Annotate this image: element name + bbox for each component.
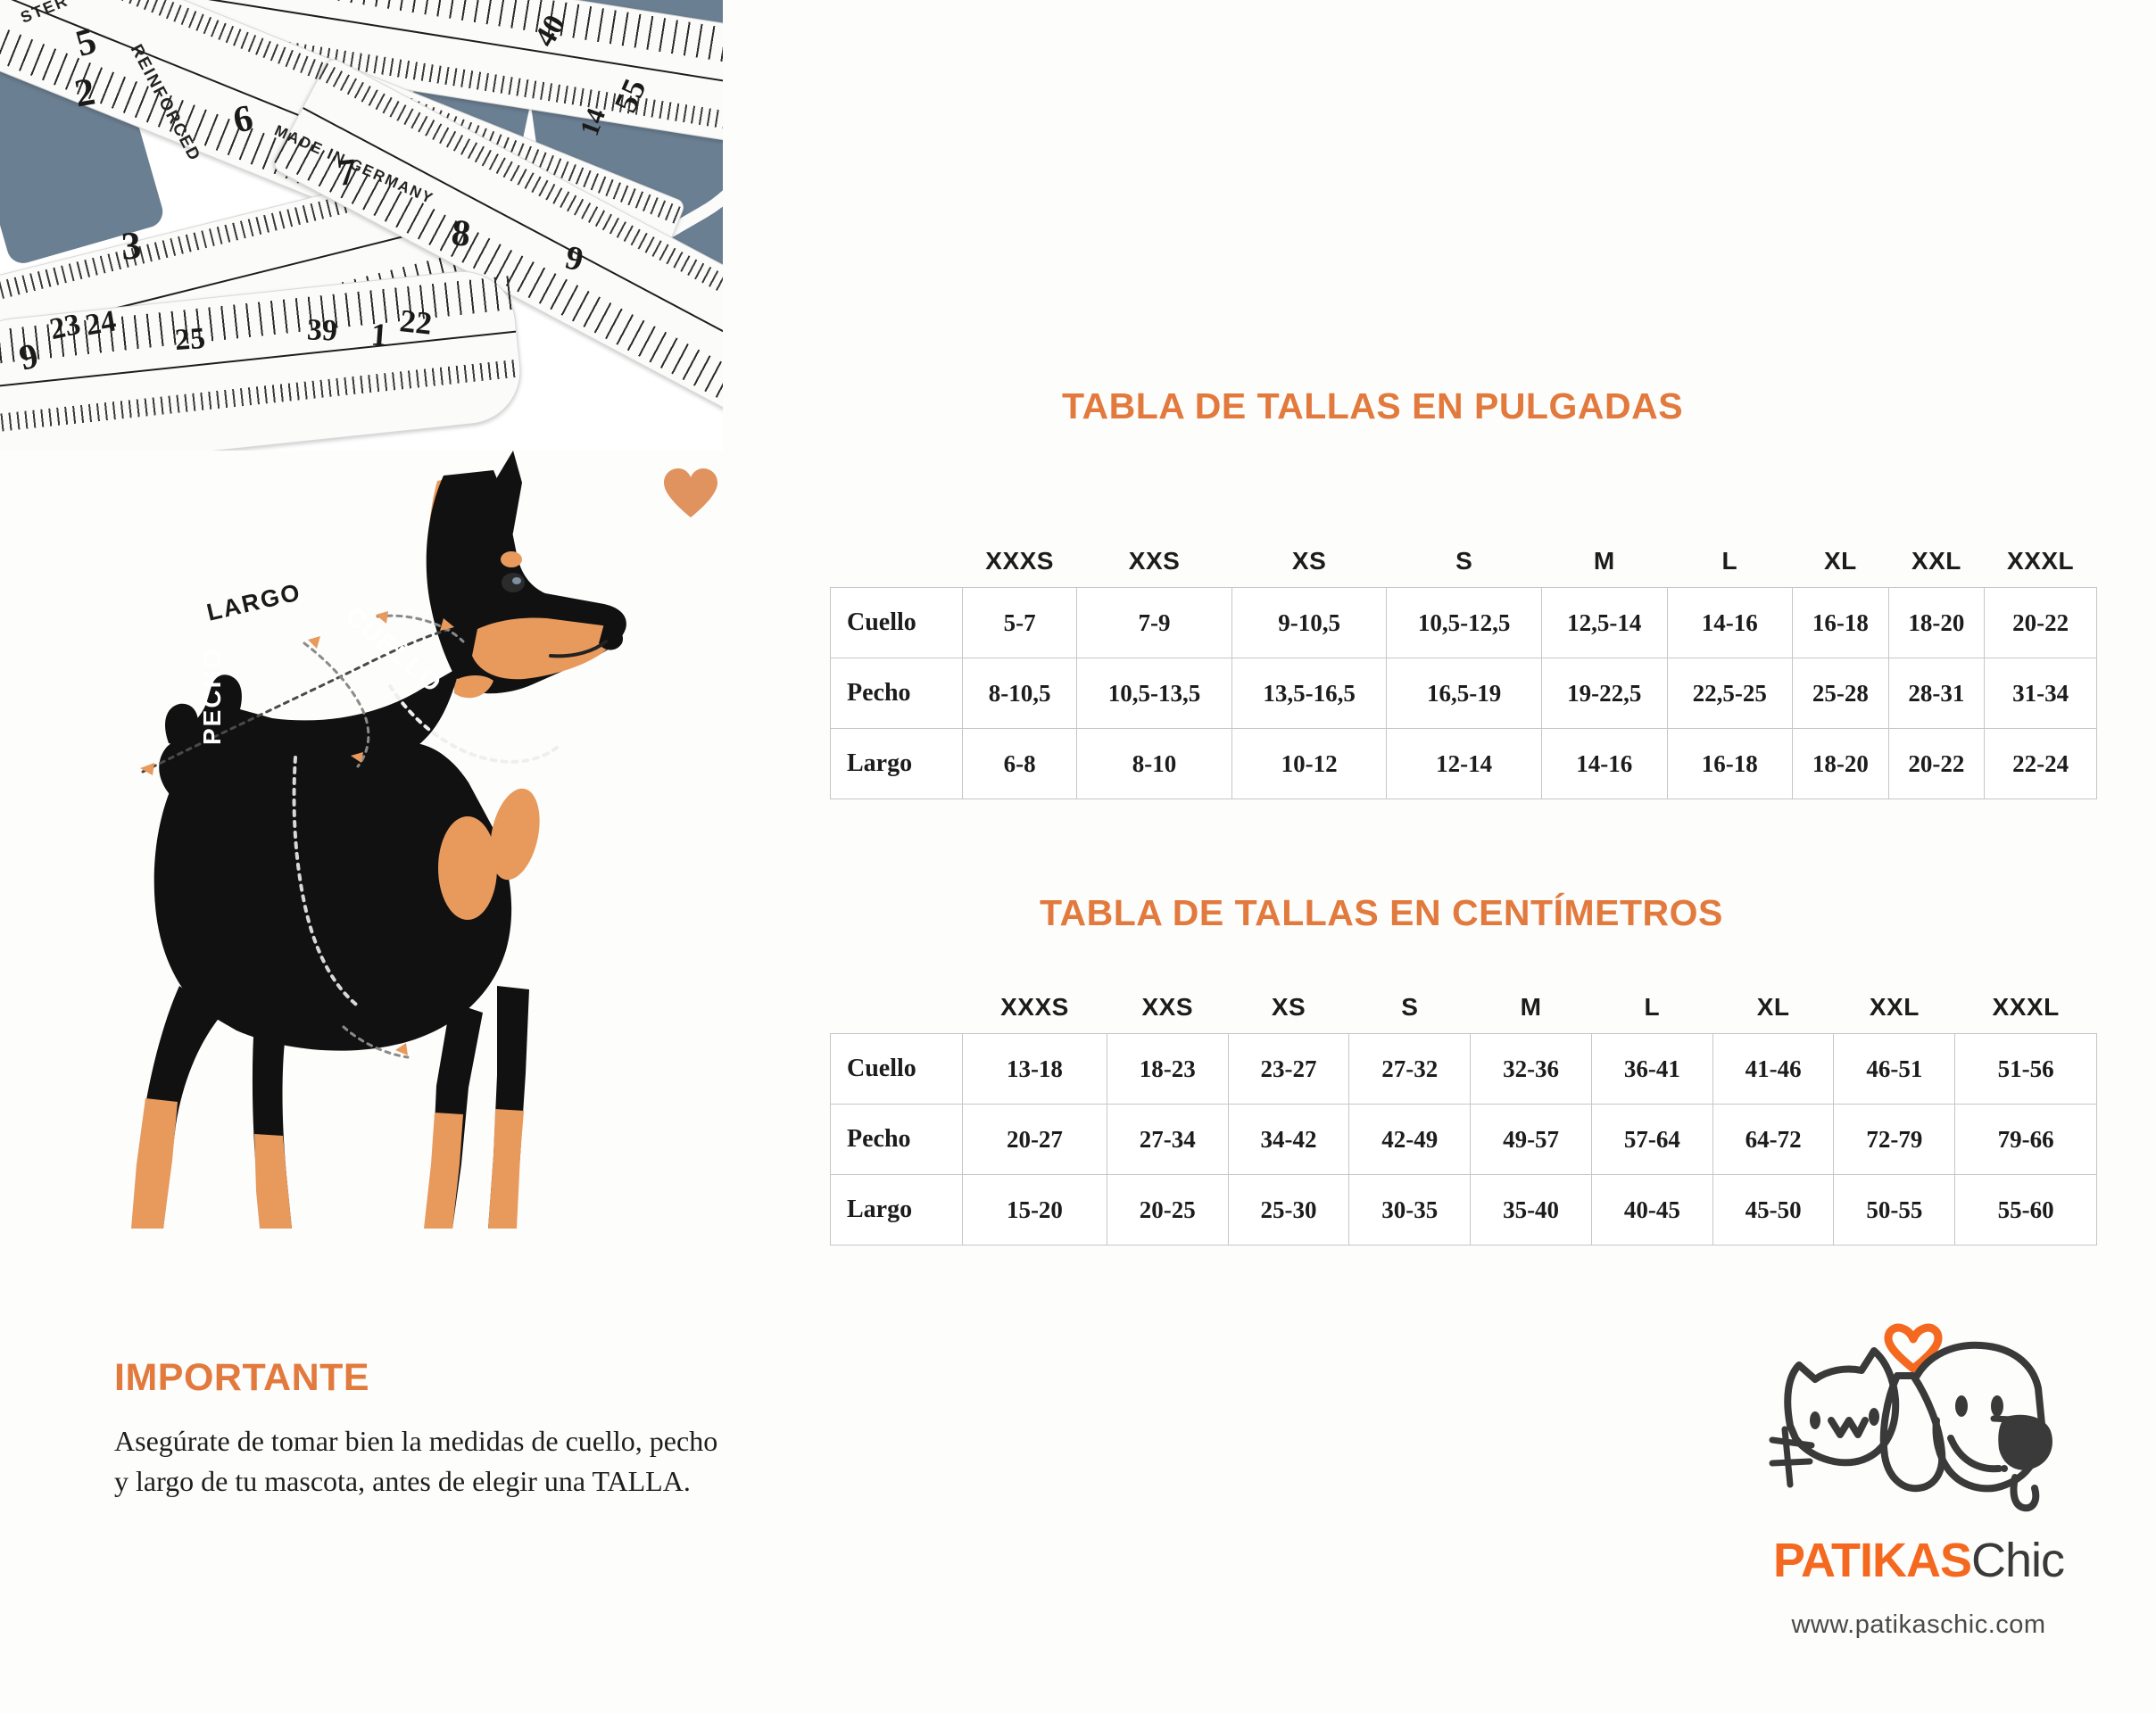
cell: 27-32 (1349, 1034, 1471, 1105)
table-title-centimeters: TABLA DE TALLAS EN CENTÍMETROS (1040, 892, 1723, 934)
cell: 20-22 (1888, 729, 1985, 799)
header-corner-cell (831, 981, 963, 1034)
cell: 22,5-25 (1667, 658, 1793, 729)
column-header-xxxs: XXXS (963, 535, 1077, 588)
table-row: Pecho 20-27 27-34 34-42 42-49 49-57 57-6… (831, 1105, 2097, 1175)
column-header-xxxl: XXXL (1955, 981, 2097, 1034)
table-header-row: XXXS XXS XS S M L XL XXL XXXL (831, 535, 2097, 588)
heart-icon (662, 468, 719, 519)
column-header-l: L (1591, 981, 1712, 1034)
brand-wordmark: PATIKASChic (1722, 1533, 2115, 1588)
cell: 51-56 (1955, 1034, 2097, 1105)
column-header-xl: XL (1793, 535, 1889, 588)
size-table-inches: XXXS XXS XS S M L XL XXL XXXL Cuello 5-7… (830, 535, 2097, 799)
cell: 7-9 (1077, 588, 1232, 658)
cell: 36-41 (1591, 1034, 1712, 1105)
header-corner-cell (831, 535, 963, 588)
tape-numeral: 3 (120, 222, 143, 269)
cell: 64-72 (1712, 1105, 1834, 1175)
label-pecho: PECHO (198, 647, 227, 745)
cell: 20-22 (1985, 588, 2097, 658)
cell: 10,5-13,5 (1077, 658, 1232, 729)
cell: 12-14 (1387, 729, 1542, 799)
cell: 10-12 (1231, 729, 1387, 799)
doberman-svg (94, 451, 808, 1236)
column-header-xxxl: XXXL (1985, 535, 2097, 588)
cell: 22-24 (1985, 729, 2097, 799)
table-row: Cuello 5-7 7-9 9-10,5 10,5-12,5 12,5-14 … (831, 588, 2097, 658)
brand-url[interactable]: www.patikaschic.com (1722, 1610, 2115, 1640)
column-header-xxxs: XXXS (963, 981, 1107, 1034)
cell: 13,5-16,5 (1231, 658, 1387, 729)
row-label-cuello: Cuello (831, 588, 963, 658)
cell: 45-50 (1712, 1175, 1834, 1245)
cell: 50-55 (1834, 1175, 1955, 1245)
cell: 35-40 (1471, 1175, 1592, 1245)
table-row: Pecho 8-10,5 10,5-13,5 13,5-16,5 16,5-19… (831, 658, 2097, 729)
column-header-xxl: XXL (1834, 981, 1955, 1034)
cell: 34-42 (1228, 1105, 1349, 1175)
important-body: Asegúrate de tomar bien la medidas de cu… (114, 1421, 1007, 1502)
cell: 19-22,5 (1541, 658, 1667, 729)
row-label-pecho: Pecho (831, 658, 963, 729)
cell: 31-34 (1985, 658, 2097, 729)
column-header-xxl: XXL (1888, 535, 1985, 588)
row-label-pecho: Pecho (831, 1105, 963, 1175)
cell: 42-49 (1349, 1105, 1471, 1175)
cell: 46-51 (1834, 1034, 1955, 1105)
table-row: Largo 6-8 8-10 10-12 12-14 14-16 16-18 1… (831, 729, 2097, 799)
brand-name-secondary: Chic (1971, 1534, 2064, 1587)
tape-numeral: 25 (174, 322, 207, 358)
cell: 18-23 (1107, 1034, 1228, 1105)
cat-and-dog-logo-icon (1738, 1320, 2095, 1535)
cell: 14-16 (1541, 729, 1667, 799)
row-label-cuello: Cuello (831, 1034, 963, 1105)
column-header-xxs: XXS (1107, 981, 1228, 1034)
table-header-row: XXXS XXS XS S M L XL XXL XXXL (831, 981, 2097, 1034)
column-header-s: S (1349, 981, 1471, 1034)
cell: 30-35 (1349, 1175, 1471, 1245)
measuring-tape-photo: REINFORCED MADE IN GERMANY STER 5 2 6 7 … (0, 0, 723, 451)
table-row: Cuello 13-18 18-23 23-27 27-32 32-36 36-… (831, 1034, 2097, 1105)
cell: 20-27 (963, 1105, 1107, 1175)
important-line-1: Asegúrate de tomar bien la medidas de cu… (114, 1421, 1007, 1461)
cell: 32-36 (1471, 1034, 1592, 1105)
cell: 8-10 (1077, 729, 1232, 799)
cell: 14-16 (1667, 588, 1793, 658)
cell: 6-8 (963, 729, 1077, 799)
row-label-largo: Largo (831, 729, 963, 799)
brand-name-primary: PATIKAS (1773, 1534, 1971, 1587)
important-heading: IMPORTANTE (114, 1356, 369, 1400)
cell: 16-18 (1667, 729, 1793, 799)
cell: 18-20 (1793, 729, 1889, 799)
cell: 28-31 (1888, 658, 1985, 729)
column-header-xxs: XXS (1077, 535, 1232, 588)
brand-logo[interactable]: PATIKASChic www.patikaschic.com (1722, 1320, 2115, 1677)
cell: 5-7 (963, 588, 1077, 658)
cell: 25-30 (1228, 1175, 1349, 1245)
cell: 18-20 (1888, 588, 1985, 658)
table-row: Largo 15-20 20-25 25-30 30-35 35-40 40-4… (831, 1175, 2097, 1245)
cell: 40-45 (1591, 1175, 1712, 1245)
cell: 72-79 (1834, 1105, 1955, 1175)
cell: 12,5-14 (1541, 588, 1667, 658)
infographic-root: REINFORCED MADE IN GERMANY STER 5 2 6 7 … (0, 0, 2156, 1713)
column-header-xs: XS (1231, 535, 1387, 588)
cell: 16-18 (1793, 588, 1889, 658)
tape-numeral: 39 (306, 313, 337, 348)
column-header-m: M (1541, 535, 1667, 588)
tape-numeral: 1 (370, 315, 389, 353)
cell: 13-18 (963, 1034, 1107, 1105)
cell: 49-57 (1471, 1105, 1592, 1175)
column-header-s: S (1387, 535, 1542, 588)
cell: 55-60 (1955, 1175, 2097, 1245)
column-header-xl: XL (1712, 981, 1834, 1034)
row-label-largo: Largo (831, 1175, 963, 1245)
cell: 10,5-12,5 (1387, 588, 1542, 658)
cell: 9-10,5 (1231, 588, 1387, 658)
cell: 20-25 (1107, 1175, 1228, 1245)
cell: 15-20 (963, 1175, 1107, 1245)
cell: 25-28 (1793, 658, 1889, 729)
cell: 41-46 (1712, 1034, 1834, 1105)
cell: 57-64 (1591, 1105, 1712, 1175)
tape-numeral: 24 (83, 304, 119, 343)
cell: 16,5-19 (1387, 658, 1542, 729)
cell: 27-34 (1107, 1105, 1228, 1175)
column-header-xs: XS (1228, 981, 1349, 1034)
cell: 79-66 (1955, 1105, 2097, 1175)
table-title-inches: TABLA DE TALLAS EN PULGADAS (1062, 385, 1683, 427)
doberman-measurement-diagram: LARGO CUELLO PECHO (94, 451, 808, 1236)
cell: 23-27 (1228, 1034, 1349, 1105)
column-header-m: M (1471, 981, 1592, 1034)
important-line-2: y largo de tu mascota, antes de elegir u… (114, 1461, 1007, 1502)
cell: 8-10,5 (963, 658, 1077, 729)
column-header-l: L (1667, 535, 1793, 588)
size-table-centimeters: XXXS XXS XS S M L XL XXL XXXL Cuello 13-… (830, 981, 2097, 1245)
tape-numeral: 22 (398, 302, 434, 343)
